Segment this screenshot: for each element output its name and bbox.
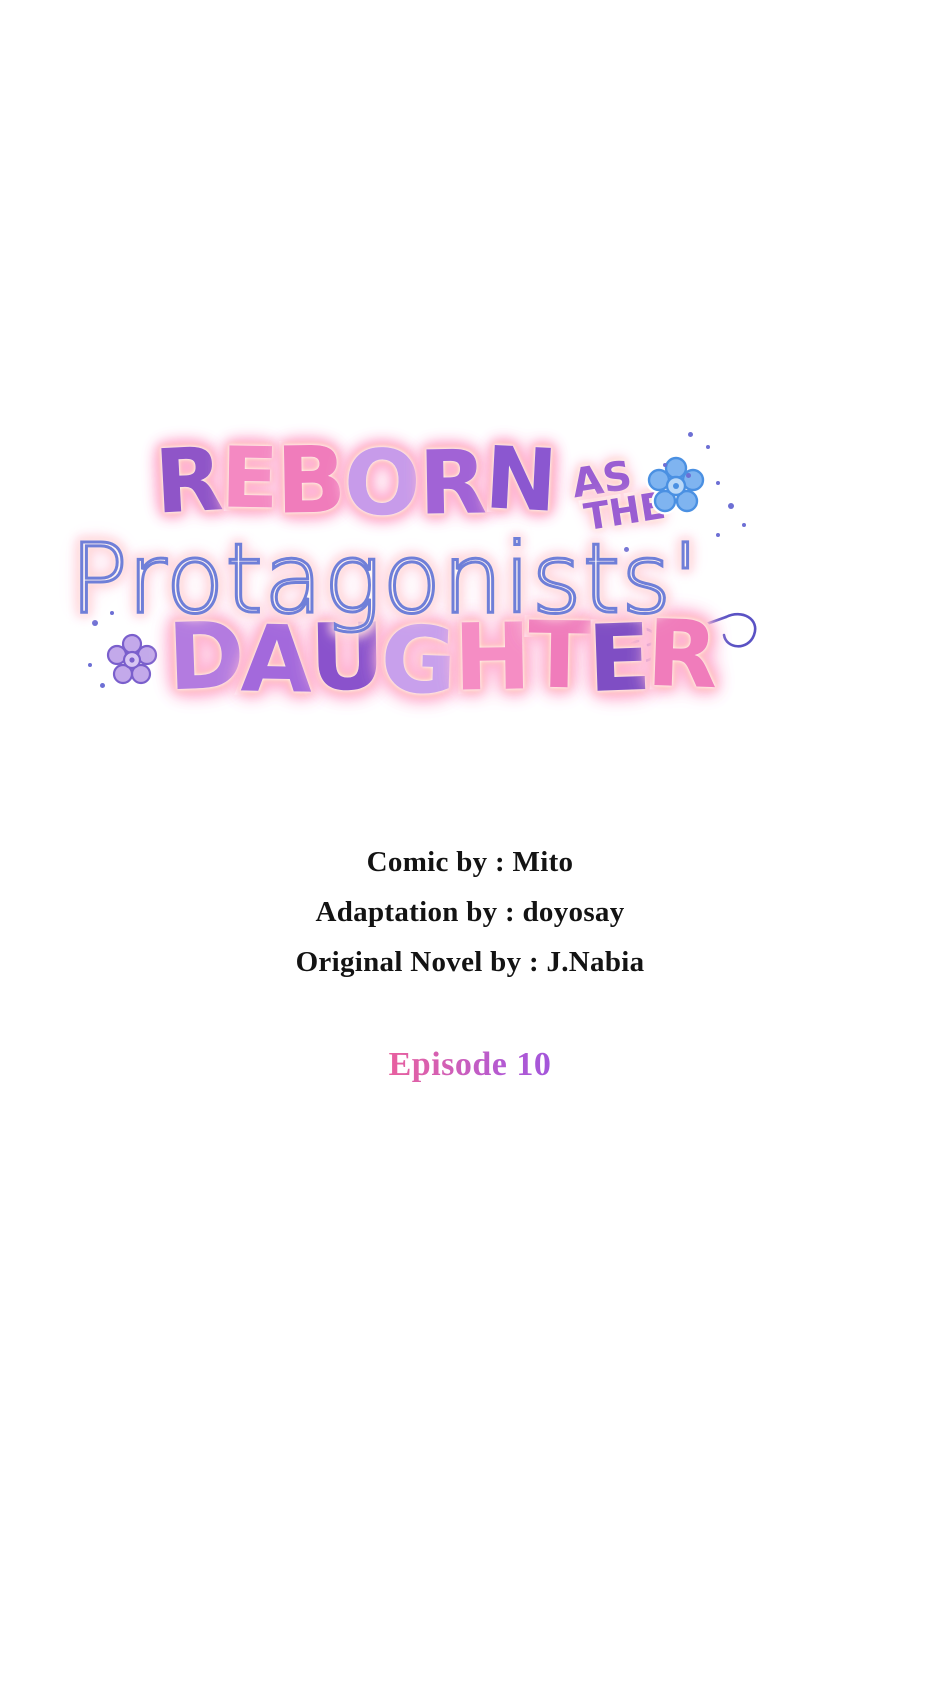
title-letter-n: N <box>483 439 557 522</box>
episode-block: Episode 10 <box>0 1046 940 1084</box>
title-letter-r2: R <box>418 442 485 524</box>
sparkle-dot <box>742 523 746 527</box>
sparkle-dot <box>663 463 667 467</box>
sparkle-dot <box>688 432 693 437</box>
title-line-protagonists: Protagonists' <box>70 523 700 635</box>
credit-comic-by: Comic by : Mito <box>0 838 940 888</box>
sparkle-dot <box>716 481 720 485</box>
title-letter-o: O <box>343 442 420 527</box>
title-letter-r1: R <box>153 439 223 523</box>
flower-blue-icon <box>645 455 707 522</box>
episode-label: Episode 10 <box>389 1046 552 1084</box>
sparkle-dot <box>88 663 92 667</box>
title-logo: R E B O R N AS THE Protagonists' Protago… <box>0 415 940 745</box>
credit-adaptation-by: Adaptation by : doyosay <box>0 888 940 938</box>
title-letter-b: B <box>275 438 345 524</box>
title-line-reborn: R E B O R N <box>155 437 555 522</box>
sparkle-dot <box>706 445 710 449</box>
sparkle-dot <box>100 683 105 688</box>
sparkle-dot <box>686 473 691 478</box>
sparkle-dot <box>728 503 734 509</box>
sparkle-dot <box>716 533 720 537</box>
flower-purple-icon <box>105 633 159 692</box>
title-letter-e1: E <box>220 440 277 518</box>
credits-block: Comic by : Mito Adaptation by : doyosay … <box>0 838 940 988</box>
credit-original-novel-by: Original Novel by : J.Nabia <box>0 938 940 988</box>
